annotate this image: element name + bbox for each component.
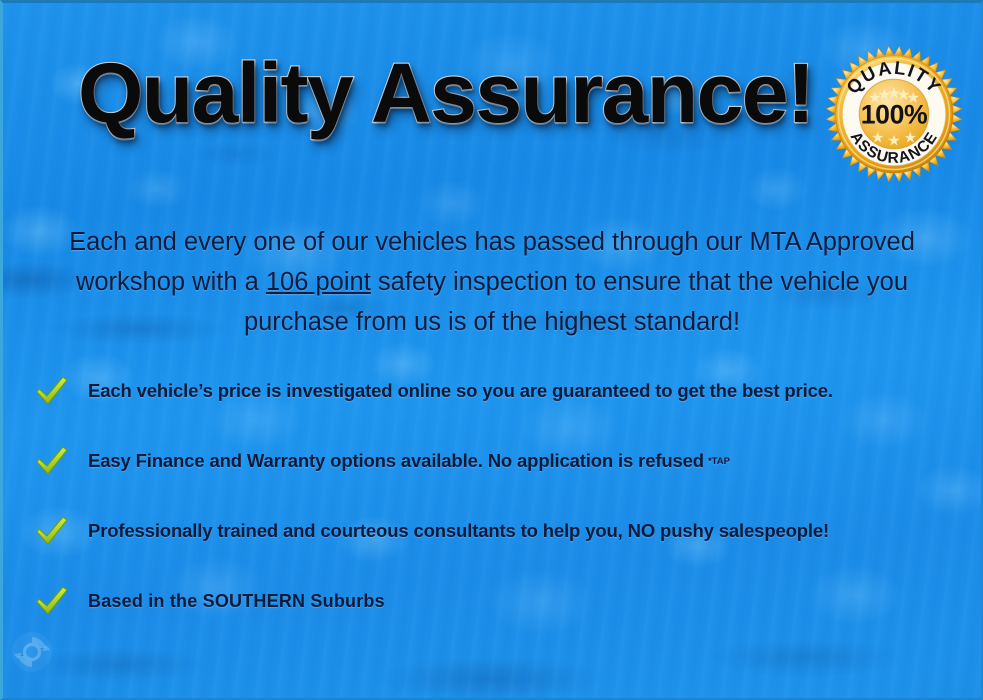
- list-item: Based in the SOUTHERN Suburbs: [34, 566, 944, 636]
- benefits-checklist: Each vehicle’s price is investigated onl…: [34, 356, 944, 636]
- circular-arrows-watermark-icon: [10, 630, 54, 674]
- quality-assurance-seal-icon: QUALITY ASSURANCE 100%: [820, 40, 968, 188]
- list-item-label: Based in the SOUTHERN Suburbs: [88, 591, 385, 612]
- list-item-footnote: *TAP: [708, 456, 730, 467]
- check-mark-icon: [34, 585, 70, 617]
- intro-paragraph: Each and every one of our vehicles has p…: [52, 222, 932, 342]
- intro-underlined-spec: 106 point: [266, 268, 371, 296]
- page-title: Quality Assurance!: [78, 47, 813, 139]
- list-item: Each vehicle’s price is investigated onl…: [34, 356, 944, 426]
- list-item-label: Easy Finance and Warranty options availa…: [88, 450, 704, 472]
- check-mark-icon: [34, 445, 70, 477]
- seal-center-text: 100%: [861, 100, 928, 130]
- list-item-label: Professionally trained and courteous con…: [88, 520, 829, 542]
- list-item: Professionally trained and courteous con…: [34, 496, 944, 566]
- quality-assurance-banner: Quality Assurance!: [0, 0, 983, 700]
- list-item: Easy Finance and Warranty options availa…: [34, 426, 944, 496]
- check-mark-icon: [34, 375, 70, 407]
- list-item-label: Each vehicle’s price is investigated onl…: [88, 380, 833, 402]
- check-mark-icon: [34, 515, 70, 547]
